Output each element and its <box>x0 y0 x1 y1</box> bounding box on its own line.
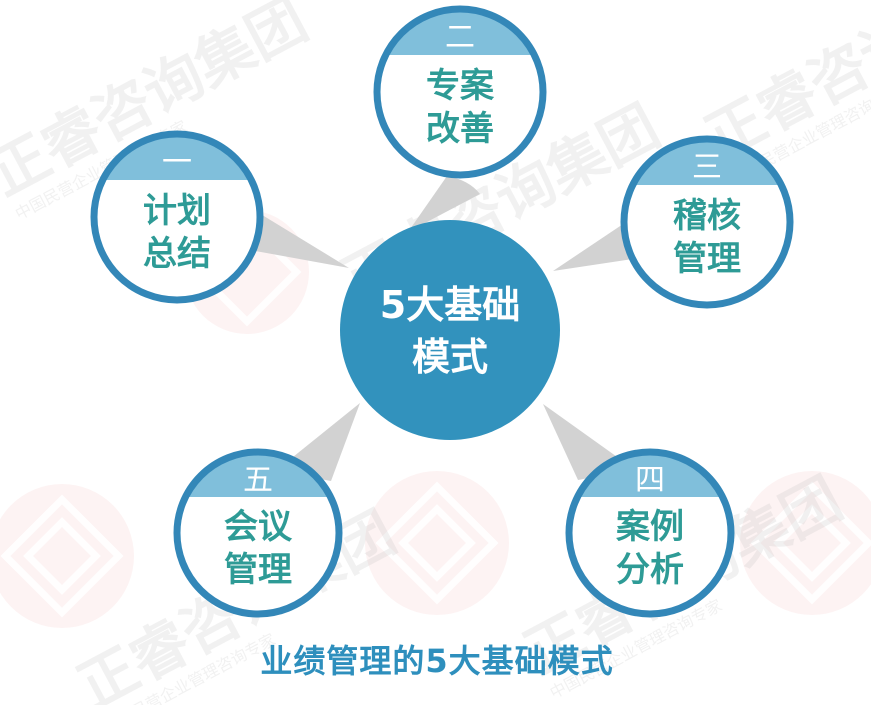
node-five-numeral: 五 <box>243 463 273 498</box>
hub-circle <box>340 220 560 440</box>
node-two-line2: 改善 <box>426 109 494 149</box>
diagram-canvas: 正睿咨询集团 中国民营企业管理咨询专家 正睿咨询集团 中国民营企业管理咨询专家 … <box>0 0 871 705</box>
node-one-line1: 计划 <box>143 191 211 231</box>
node-four[interactable]: 四 案例 分析 <box>569 452 731 614</box>
node-one-numeral: 一 <box>162 145 192 180</box>
node-three-numeral: 三 <box>692 150 722 185</box>
node-three[interactable]: 三 稽核 管理 <box>624 139 790 305</box>
node-four-line2: 分析 <box>616 550 684 590</box>
node-three-line2: 管理 <box>673 239 741 279</box>
hub-line2: 模式 <box>412 335 488 379</box>
node-three-line1: 稽核 <box>673 196 741 236</box>
watermark-logo-left <box>0 484 134 628</box>
five-mode-circle-diagram: 正睿咨询集团 中国民营企业管理咨询专家 正睿咨询集团 中国民营企业管理咨询专家 … <box>0 0 871 705</box>
node-four-numeral: 四 <box>635 463 665 498</box>
node-one[interactable]: 一 计划 总结 <box>94 134 260 300</box>
node-four-line1: 案例 <box>616 507 684 547</box>
node-two[interactable]: 二 专案 改善 <box>377 9 543 175</box>
hub-group[interactable]: 5大基础 模式 <box>340 220 560 440</box>
node-one-line2: 总结 <box>143 234 211 274</box>
diagram-caption: 业绩管理的5大基础模式 <box>260 642 613 680</box>
node-five-line1: 会议 <box>224 507 293 547</box>
node-two-numeral: 二 <box>445 20 475 55</box>
node-two-line1: 专案 <box>426 66 495 106</box>
node-five[interactable]: 五 会议 管理 <box>177 452 339 614</box>
hub-line1: 5大基础 <box>380 283 520 327</box>
node-five-line2: 管理 <box>224 550 292 590</box>
